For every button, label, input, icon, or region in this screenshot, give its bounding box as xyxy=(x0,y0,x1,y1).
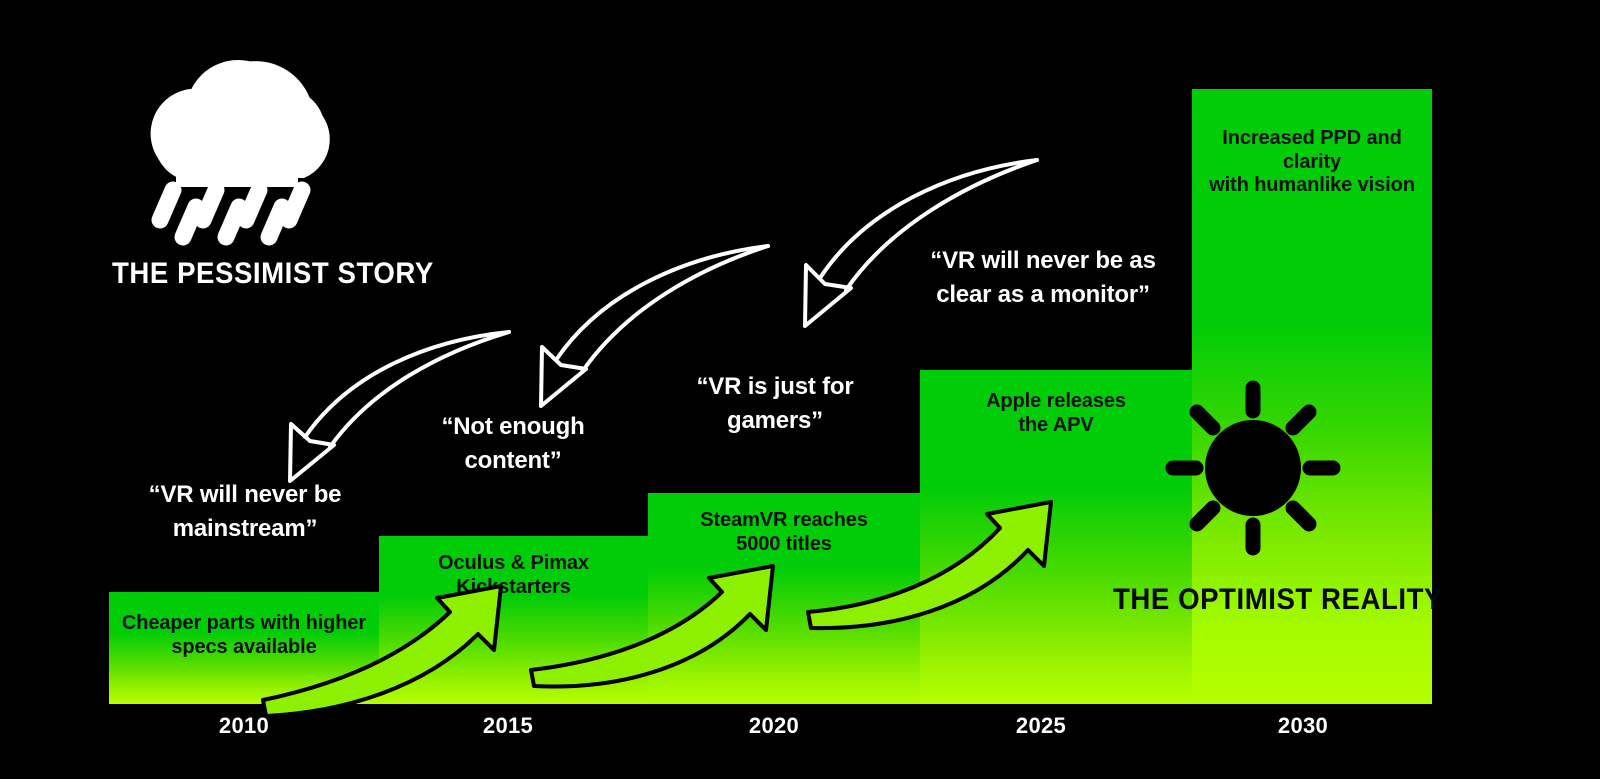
bar-label-2030: Increased PPD and clarity with humanlike… xyxy=(1192,127,1432,198)
bar-label-2010-line2: specs available xyxy=(109,636,379,660)
bar-label-2030-line2: with humanlike vision xyxy=(1192,174,1432,198)
pessimist-quote-2020-line1: “VR is just for xyxy=(660,370,890,404)
infographic-canvas: Cheaper parts with higher specs availabl… xyxy=(0,0,1600,779)
pessimist-story-title: THE PESSIMIST STORY xyxy=(112,257,434,291)
bar-label-2015-line2: Kickstarters xyxy=(379,576,648,600)
axis-tick-2020: 2020 xyxy=(714,713,834,739)
bar-label-2025-line1: Apple releases xyxy=(920,390,1192,414)
pessimist-quote-2015: “Not enough content” xyxy=(400,410,626,478)
pessimist-quote-2015-line2: content” xyxy=(400,444,626,478)
axis-tick-2025: 2025 xyxy=(981,713,1101,739)
bar-2015: Oculus & Pimax Kickstarters xyxy=(379,536,648,704)
bar-label-2025-line2: the APV xyxy=(920,414,1192,438)
bar-2025: Apple releases the APV xyxy=(920,370,1192,704)
bar-label-2015-line1: Oculus & Pimax xyxy=(379,552,648,576)
bar-label-2010: Cheaper parts with higher specs availabl… xyxy=(109,612,379,659)
bar-label-2020: SteamVR reaches 5000 titles xyxy=(648,509,920,556)
axis-tick-2030: 2030 xyxy=(1243,713,1363,739)
bar-label-2020-line1: SteamVR reaches xyxy=(648,509,920,533)
bar-label-2010-line1: Cheaper parts with higher xyxy=(109,612,379,636)
pessimist-quote-2010-line2: mainstream” xyxy=(115,512,375,546)
pessimist-quote-2025-line2: clear as a monitor” xyxy=(908,278,1178,312)
pessimist-quote-2010: “VR will never be mainstream” xyxy=(115,478,375,546)
pessimist-quote-2015-line1: “Not enough xyxy=(400,410,626,444)
pessimist-quote-2025: “VR will never be as clear as a monitor” xyxy=(908,244,1178,312)
rain-cloud-icon xyxy=(151,60,330,237)
pessimist-quote-2020: “VR is just for gamers” xyxy=(660,370,890,438)
bar-label-2030-line1: Increased PPD and clarity xyxy=(1192,127,1432,174)
bar-label-2020-line2: 5000 titles xyxy=(648,533,920,557)
pessimist-quote-2025-line1: “VR will never be as xyxy=(908,244,1178,278)
optimist-reality-title: THE OPTIMIST REALITY xyxy=(1113,583,1443,617)
pessimist-quote-2020-line2: gamers” xyxy=(660,404,890,438)
axis-tick-2015: 2015 xyxy=(448,713,568,739)
bar-2020: SteamVR reaches 5000 titles xyxy=(648,493,920,704)
bar-label-2015: Oculus & Pimax Kickstarters xyxy=(379,552,648,599)
pessimist-quote-2010-line1: “VR will never be xyxy=(115,478,375,512)
bar-label-2025: Apple releases the APV xyxy=(920,390,1192,437)
bar-2010: Cheaper parts with higher specs availabl… xyxy=(109,592,379,704)
axis-tick-2010: 2010 xyxy=(184,713,304,739)
